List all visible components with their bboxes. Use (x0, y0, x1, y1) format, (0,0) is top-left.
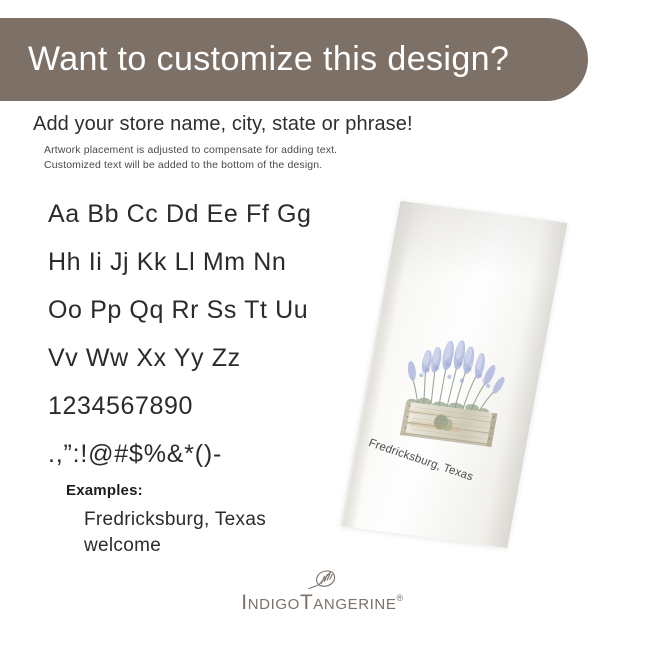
logo-name: IndigoTangerine (241, 591, 396, 614)
specimen-line-numerals: 1234567890 (48, 382, 378, 430)
brand-logo: IndigoTangerine® (0, 568, 645, 615)
intro-note-2: Customized text will be added to the bot… (44, 158, 337, 173)
example-item: Fredricksburg, Texas (66, 507, 266, 533)
tea-towel: Fredricksburg, Texas (340, 201, 567, 548)
logo-wordmark: IndigoTangerine® (241, 591, 403, 615)
example-item: welcome (66, 533, 266, 559)
examples-section: Examples: Fredricksburg, Texas welcome (66, 482, 266, 559)
header-banner: Want to customize this design? (0, 18, 588, 101)
banner-title: Want to customize this design? (0, 40, 509, 79)
font-specimen: Aa Bb Cc Dd Ee Ff Gg Hh Ii Jj Kk Ll Mm N… (48, 190, 378, 478)
specimen-line-uppercase-v-z: Vv Ww Xx Yy Zz (48, 334, 378, 382)
product-photo: Fredricksburg, Texas (352, 196, 632, 556)
intro-notes: Artwork placement is adjusted to compens… (44, 143, 337, 173)
leaf-icon (306, 568, 340, 590)
intro-headline: Add your store name, city, state or phra… (33, 113, 413, 136)
registered-trademark-icon: ® (396, 593, 403, 603)
intro-note-1: Artwork placement is adjusted to compens… (44, 143, 337, 158)
specimen-line-uppercase-a-g: Aa Bb Cc Dd Ee Ff Gg (48, 190, 378, 238)
specimen-line-uppercase-o-u: Oo Pp Qq Rr Ss Tt Uu (48, 286, 378, 334)
specimen-line-symbols: .,”:!@#$%&*()- (48, 430, 378, 478)
specimen-line-uppercase-h-n: Hh Ii Jj Kk Ll Mm Nn (48, 238, 378, 286)
examples-label: Examples: (66, 482, 266, 499)
towel-wrap: Fredricksburg, Texas (352, 196, 632, 556)
towel-artwork-icon (387, 323, 526, 455)
